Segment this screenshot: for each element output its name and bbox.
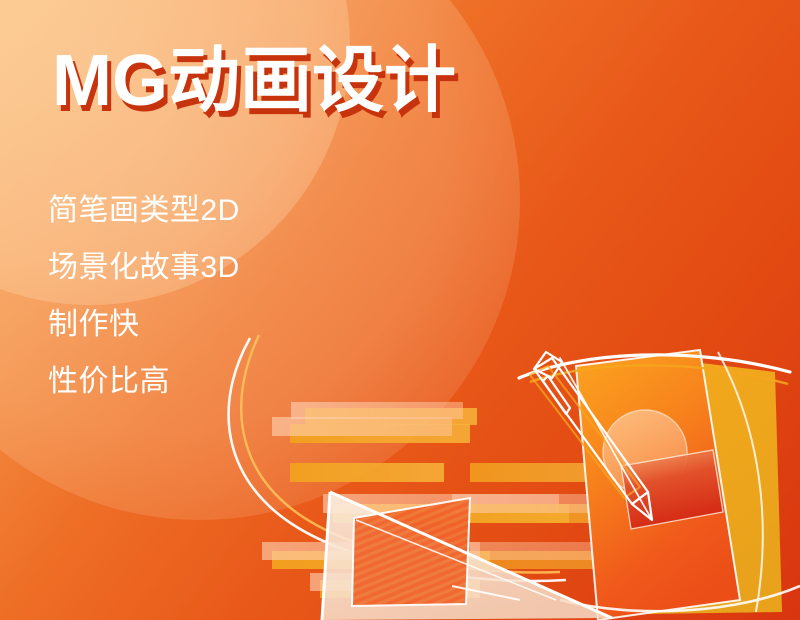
feature-item: 简笔画类型2D [48, 182, 240, 239]
text-bar [291, 402, 463, 419]
page-title: MG动画设计 [52, 45, 456, 117]
feature-item: 场景化故事3D [48, 239, 240, 296]
text-bar [290, 463, 444, 482]
feature-item: 制作快 [48, 296, 240, 353]
feature-list: 简笔画类型2D 场景化故事3D 制作快 性价比高 [48, 182, 240, 410]
text-bar [272, 417, 452, 436]
feature-item: 性价比高 [48, 353, 240, 410]
promo-banner: MG动画设计 简笔画类型2D 场景化故事3D 制作快 性价比高 [0, 0, 800, 620]
